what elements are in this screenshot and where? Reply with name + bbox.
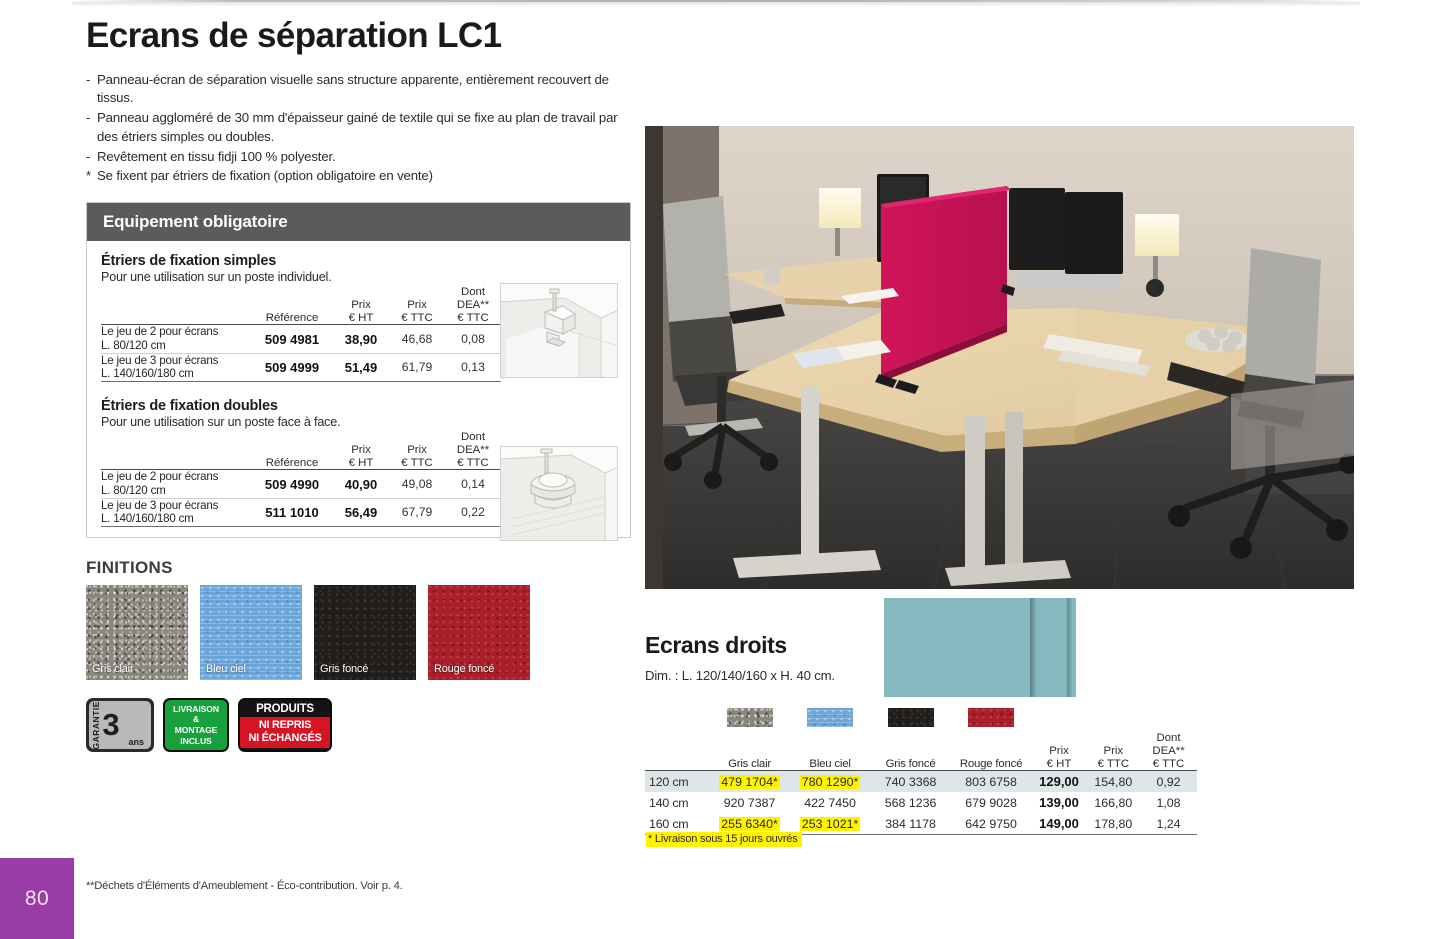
row-label: Le jeu de 3 pour écransL. 140/160/180 cm: [101, 498, 251, 526]
row-reference: 509 4999: [251, 353, 333, 381]
list-item: *Se fixent par étriers de fixation (opti…: [86, 167, 631, 186]
swatch-gris-clair[interactable]: Gris clair: [86, 585, 188, 680]
ecrans-droits-dimensions: Dim. : L. 120/140/160 x H. 40 cm.: [645, 668, 835, 683]
row-dea: 1,24: [1140, 813, 1197, 835]
row-prix-ht: 38,90: [333, 325, 389, 353]
swatch-row-spacer: [1087, 708, 1140, 732]
swatch-label: Rouge foncé: [434, 663, 494, 675]
row-size: 140 cm: [645, 792, 709, 813]
badge-livraison-line1: LIVRAISON: [173, 704, 219, 715]
col-gris-fonce: Gris foncé: [870, 732, 951, 771]
row-ref-rouge-fonce: 642 9750: [951, 813, 1032, 835]
row-prix-ttc: 154,80: [1087, 771, 1140, 793]
bracket-simple-illustration: [500, 283, 618, 378]
row-reference: 509 4990: [251, 470, 333, 498]
row-ref-gris-clair: 920 7387: [709, 792, 790, 813]
bullet-marker: *: [86, 167, 91, 186]
table-row: Le jeu de 2 pour écransL. 80/120 cm 509 …: [101, 325, 501, 353]
row-dea: 0,13: [445, 353, 501, 381]
badge-produits-non-repris: PRODUITS NI REPRIS NI ÉCHANGÉS: [238, 698, 332, 752]
col-spacer: [101, 286, 251, 325]
col-prix-ht: Prix€ HT: [1031, 732, 1086, 771]
row-dea: 0,08: [445, 325, 501, 353]
finitions-swatch-row: Gris clair Bleu ciel Gris foncé Rouge fo…: [86, 585, 631, 680]
bullet-text: Revêtement en tissu fidji 100 % polyeste…: [97, 149, 336, 164]
list-item: -Panneau aggloméré de 30 mm d'épaisseur …: [86, 109, 631, 146]
bullet-marker: -: [86, 148, 90, 167]
swatch-chip: [888, 708, 934, 727]
row-prix-ht: 51,49: [333, 353, 389, 381]
table-swatch-rouge-fonce: [951, 708, 1032, 732]
list-item: -Revêtement en tissu fidji 100 % polyest…: [86, 148, 631, 167]
row-prix-ttc: 178,80: [1087, 813, 1140, 835]
col-dea: Dont DEA**€ TTC: [1140, 732, 1197, 771]
finitions-title: FINITIONS: [86, 558, 631, 578]
badge-produits-line1: NI REPRIS: [259, 719, 311, 731]
row-ref-gris-fonce: 568 1236: [870, 792, 951, 813]
equipement-obligatoire-body: Étriers de fixation simples Pour une uti…: [87, 241, 630, 537]
swatch-gris-fonce[interactable]: Gris foncé: [314, 585, 416, 680]
badge-garantie-number: 3: [102, 712, 119, 738]
col-rouge-fonce: Rouge foncé: [951, 732, 1032, 771]
table-header-row: Référence Prix€ HT Prix€ TTC Dont DEA**€…: [101, 431, 501, 470]
row-prix-ttc: 166,80: [1087, 792, 1140, 813]
swatch-row-spacer: [645, 708, 709, 732]
etriers-simples-table: Référence Prix€ HT Prix€ TTC Dont DEA**€…: [101, 286, 501, 382]
row-ref-bleu-ciel: 422 7450: [790, 792, 871, 813]
panel-seam-1: [1030, 598, 1036, 697]
badge-livraison-montage: LIVRAISON & MONTAGE INCLUS: [163, 698, 229, 752]
row-dea: 0,14: [445, 470, 501, 498]
col-reference: Référence: [251, 431, 333, 470]
ecrans-droits-title: Ecrans droits: [645, 632, 835, 659]
row-reference: 509 4981: [251, 325, 333, 353]
col-bleu-ciel: Bleu ciel: [790, 732, 871, 771]
row-dea: 0,92: [1140, 771, 1197, 793]
row-label: Le jeu de 3 pour écransL. 140/160/180 cm: [101, 353, 251, 381]
etriers-doubles-title: Étriers de fixation doubles: [101, 398, 616, 414]
row-ref-rouge-fonce: 803 6758: [951, 771, 1032, 793]
col-prix-ttc: Prix€ TTC: [1087, 732, 1140, 771]
row-ref-gris-clair: 479 1704*: [709, 771, 790, 793]
table-row: Le jeu de 2 pour écransL. 80/120 cm 509 …: [101, 470, 501, 498]
page-number: 80: [25, 887, 49, 911]
badge-produits-line2: NI ÉCHANGÉS: [248, 732, 321, 744]
badge-livraison-line3: MONTAGE: [175, 725, 218, 736]
badge-produits-red-block: NI REPRIS NI ÉCHANGÉS: [240, 717, 330, 748]
col-gris-clair: Gris clair: [709, 732, 790, 771]
swatch-row-spacer: [1031, 708, 1086, 732]
swatch-label: Gris foncé: [320, 663, 368, 675]
table-swatch-bleu-ciel: [790, 708, 871, 732]
swatch-chip: [807, 708, 853, 727]
row-prix-ht: 56,49: [333, 498, 389, 526]
swatch-label: Bleu ciel: [206, 663, 246, 675]
badge-produits-top: PRODUITS: [256, 703, 314, 715]
row-prix-ht: 40,90: [333, 470, 389, 498]
panel-seam-2: [1067, 598, 1072, 697]
table-row: 140 cm 920 7387 422 7450 568 1236 679 90…: [645, 792, 1197, 813]
row-prix-ht: 139,00: [1031, 792, 1086, 813]
equipement-obligatoire-header: Equipement obligatoire: [87, 203, 630, 241]
feature-bullet-list: -Panneau-écran de séparation visuelle sa…: [86, 71, 631, 186]
row-label: Le jeu de 2 pour écransL. 80/120 cm: [101, 470, 251, 498]
row-size: 120 cm: [645, 771, 709, 793]
badge-garantie-inner: GARANTIE 3 ans: [89, 701, 151, 749]
bullet-marker: -: [86, 71, 90, 90]
table-swatch-gris-clair: [709, 708, 790, 732]
ecrans-droits-header: Ecrans droits Dim. : L. 120/140/160 x H.…: [645, 632, 835, 683]
col-reference: Référence: [251, 286, 333, 325]
swatch-row-spacer: [1140, 708, 1197, 732]
page-title: Ecrans de séparation LC1: [86, 18, 631, 55]
table-header-row: Gris clair Bleu ciel Gris foncé Rouge fo…: [645, 732, 1197, 771]
row-prix-ttc: 46,68: [389, 325, 445, 353]
table-row: 120 cm 479 1704* 780 1290* 740 3368 803 …: [645, 771, 1197, 793]
table-swatch-row: [645, 708, 1197, 732]
list-item: -Panneau-écran de séparation visuelle sa…: [86, 71, 631, 108]
row-reference: 511 1010: [251, 498, 333, 526]
row-prix-ht: 149,00: [1031, 813, 1086, 835]
col-dea: Dont DEA**€ TTC: [445, 286, 501, 325]
swatch-chip: [727, 708, 773, 727]
table-row: Le jeu de 3 pour écransL. 140/160/180 cm…: [101, 498, 501, 526]
table-row: Le jeu de 3 pour écransL. 140/160/180 cm…: [101, 353, 501, 381]
swatch-rouge-fonce[interactable]: Rouge foncé: [428, 585, 530, 680]
left-column: Ecrans de séparation LC1 -Panneau-écran …: [86, 18, 631, 752]
page-number-tab: 80: [0, 858, 74, 939]
badge-garantie: GARANTIE 3 ans: [86, 698, 154, 752]
equipement-obligatoire-box: Equipement obligatoire: [86, 202, 631, 538]
col-size: [645, 732, 709, 771]
etriers-doubles-table: Référence Prix€ HT Prix€ TTC Dont DEA**€…: [101, 431, 501, 527]
row-prix-ttc: 67,79: [389, 498, 445, 526]
bullet-marker: -: [86, 109, 90, 128]
col-prix-ttc: Prix€ TTC: [389, 431, 445, 470]
row-ref-rouge-fonce: 679 9028: [951, 792, 1032, 813]
page-edge-shadow: [72, 0, 1360, 7]
badge-garantie-label: GARANTIE: [92, 701, 100, 749]
row-ref-bleu-ciel: 780 1290*: [790, 771, 871, 793]
group-divider: [101, 382, 616, 398]
badge-livraison-line4: INCLUS: [180, 736, 211, 747]
etriers-simples-desc: Pour une utilisation sur un poste indivi…: [101, 270, 616, 284]
bullet-text: Se fixent par étriers de fixation (optio…: [97, 168, 433, 183]
col-prix-ht: Prix€ HT: [333, 431, 389, 470]
etriers-doubles-desc: Pour une utilisation sur un poste face à…: [101, 415, 616, 429]
row-dea: 0,22: [445, 498, 501, 526]
table-swatch-gris-fonce: [870, 708, 951, 732]
swatch-chip: [968, 708, 1014, 727]
col-spacer: [101, 431, 251, 470]
hero-product-photo: [645, 126, 1354, 589]
swatch-bleu-ciel[interactable]: Bleu ciel: [200, 585, 302, 680]
row-prix-ttc: 49,08: [389, 470, 445, 498]
badge-livraison-line2: &: [193, 714, 199, 725]
row-ref-gris-fonce: 384 1178: [870, 813, 951, 835]
swatch-label: Gris clair: [92, 663, 133, 675]
col-prix-ttc: Prix€ TTC: [389, 286, 445, 325]
row-prix-ttc: 61,79: [389, 353, 445, 381]
ecrans-droits-table: Gris clair Bleu ciel Gris foncé Rouge fo…: [645, 708, 1197, 835]
row-ref-gris-fonce: 740 3368: [870, 771, 951, 793]
table-header-row: Référence Prix€ HT Prix€ TTC Dont DEA**€…: [101, 286, 501, 325]
livraison-footnote: * Livraison sous 15 jours ouvrés: [646, 832, 802, 847]
badge-garantie-unit: ans: [128, 737, 144, 747]
badge-row: GARANTIE 3 ans LIVRAISON & MONTAGE INCLU…: [86, 698, 631, 752]
bracket-double-illustration: [500, 446, 618, 541]
bullet-text: Panneau-écran de séparation visuelle san…: [97, 72, 609, 106]
row-dea: 1,08: [1140, 792, 1197, 813]
col-dea: Dont DEA**€ TTC: [445, 431, 501, 470]
row-label: Le jeu de 2 pour écransL. 80/120 cm: [101, 325, 251, 353]
bullet-text: Panneau aggloméré de 30 mm d'épaisseur g…: [97, 110, 618, 144]
etriers-simples-title: Étriers de fixation simples: [101, 253, 616, 269]
row-prix-ht: 129,00: [1031, 771, 1086, 793]
ecrans-droits-product-image: [884, 598, 1076, 697]
row-ref-bleu-ciel: 253 1021*: [790, 813, 871, 835]
col-prix-ht: Prix€ HT: [333, 286, 389, 325]
dea-footnote: **Déchets d'Éléments d'Ameublement - Éco…: [86, 880, 403, 892]
